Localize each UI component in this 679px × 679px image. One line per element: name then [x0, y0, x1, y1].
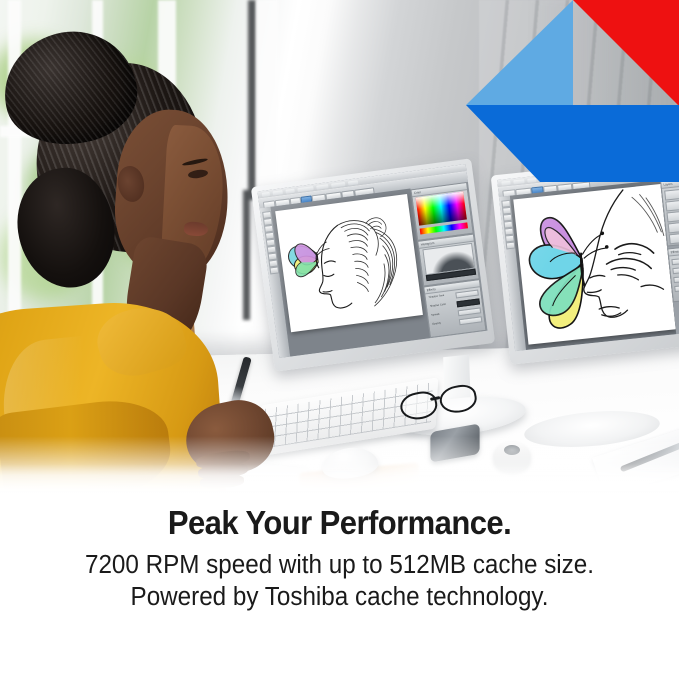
- promo-subcopy: 7200 RPM speed with up to 512MB cache si…: [17, 542, 662, 613]
- artwork-canvas[interactable]: [275, 194, 423, 332]
- menu-item[interactable]: [348, 180, 358, 185]
- monitor-screen[interactable]: Layers Effects: [497, 159, 679, 351]
- menu-item[interactable]: [285, 188, 294, 193]
- butterfly-artwork: [525, 212, 616, 331]
- image-editor-window[interactable]: Layers Effects: [497, 159, 679, 351]
- panel-title-label: Layers: [663, 182, 672, 187]
- effect-slider[interactable]: [672, 265, 679, 275]
- effect-slider[interactable]: [674, 283, 679, 293]
- effect-slider[interactable]: [671, 256, 679, 266]
- brand-triangles-svg: [400, 0, 679, 182]
- image-editor-window[interactable]: Color Histogram: [257, 164, 487, 358]
- panel-title-label: Effects: [670, 249, 679, 254]
- panel-title-label: Effects: [426, 287, 436, 292]
- page-title: Peak Your Performance.: [20, 498, 658, 542]
- histogram-panel[interactable]: Histogram: [417, 234, 480, 287]
- artwork-sketch: [275, 194, 423, 332]
- artwork-canvas[interactable]: [513, 184, 675, 345]
- effect-slider[interactable]: [673, 274, 679, 284]
- canvas-area[interactable]: [510, 180, 676, 350]
- effect-label: Shadow Color: [430, 303, 447, 308]
- panel-title-bar: Effects: [668, 246, 679, 257]
- text-block-fade: [0, 464, 679, 500]
- effect-swatch[interactable]: [456, 298, 480, 307]
- promo-text-block: Peak Your Performance. 7200 RPM speed wi…: [0, 498, 679, 679]
- secondary-monitor[interactable]: Layers Effects: [491, 153, 679, 364]
- butterfly-artwork: [287, 240, 333, 278]
- monitor-screen[interactable]: Color Histogram: [257, 164, 487, 358]
- artwork-sketch-zoom: [513, 184, 675, 345]
- layer-row[interactable]: [664, 187, 679, 200]
- effect-label: Spread: [431, 313, 440, 317]
- light-blue-triangle: [466, 0, 573, 105]
- effect-label: Shadow Tone: [429, 294, 445, 299]
- panel-title-label: Color: [414, 190, 422, 195]
- red-triangle: [573, 0, 679, 106]
- effects-panel[interactable]: Effects Shadow Tone Shadow Color Spread …: [423, 279, 486, 338]
- effect-label: Opacity: [432, 322, 441, 326]
- dark-blue-triangle: [466, 105, 679, 182]
- color-picker-panel[interactable]: Color: [410, 182, 473, 241]
- effect-slider[interactable]: [458, 307, 482, 316]
- promo-banner: Color Histogram: [0, 0, 679, 679]
- brand-triangles: [400, 0, 679, 182]
- canvas-area[interactable]: [271, 188, 431, 356]
- effect-slider[interactable]: [455, 289, 479, 298]
- effect-slider[interactable]: [459, 316, 483, 325]
- panel-title-label: Histogram: [420, 241, 434, 247]
- color-gradient-field[interactable]: [416, 192, 467, 226]
- primary-monitor[interactable]: Color Histogram: [251, 158, 495, 371]
- menu-item[interactable]: [272, 190, 282, 195]
